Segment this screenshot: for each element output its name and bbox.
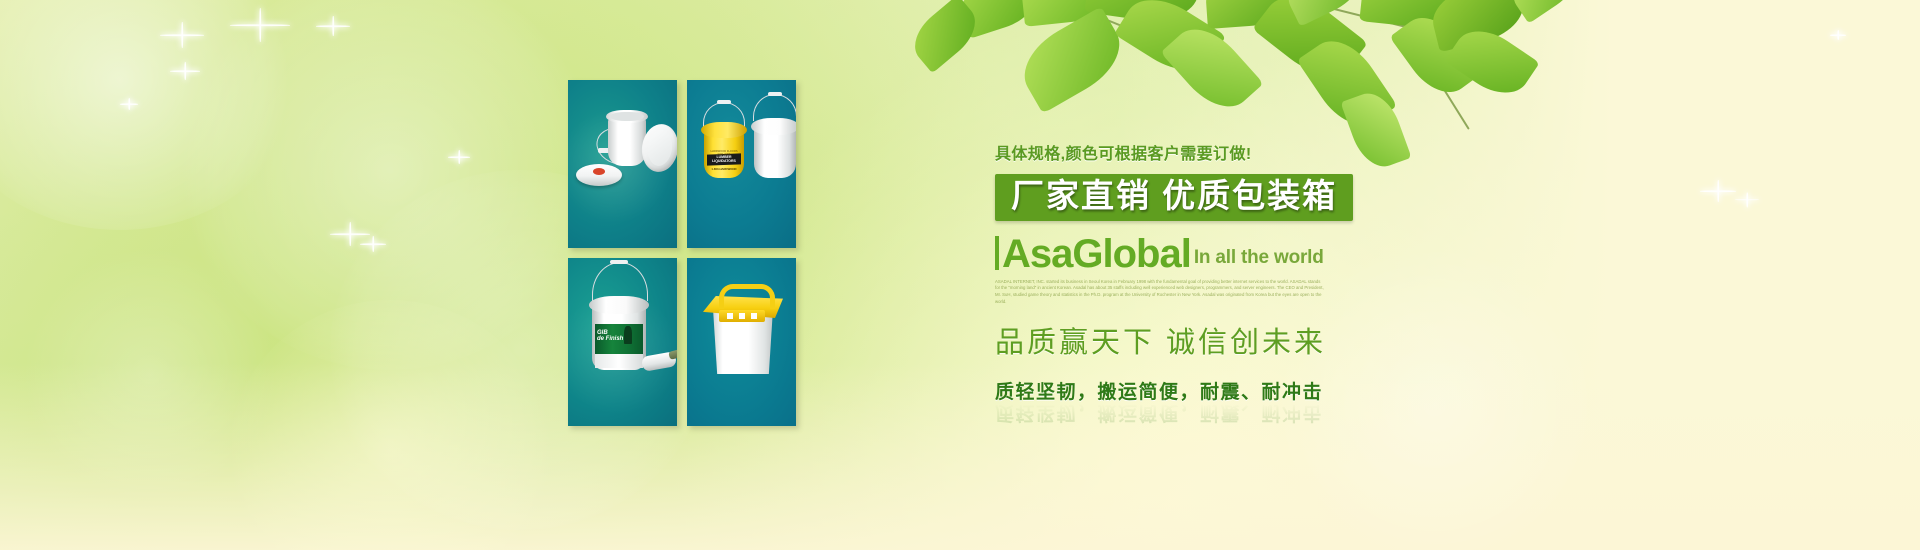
tote-handle — [719, 284, 775, 309]
brand-name: AsaGlobal — [1002, 235, 1191, 273]
company-blurb: ASADAL INTERNET, INC. started its busine… — [995, 279, 1325, 306]
banner-text-column: 具体规格,颜色可根据客户需要订做! 厂家直销 优质包装箱 AsaGlobal I… — [995, 140, 1635, 429]
product-photo-white-pail-with-lids[interactable] — [568, 80, 677, 248]
pail-handle-grip — [768, 92, 782, 96]
pail-handle — [753, 94, 796, 121]
brand-accent-bar — [995, 236, 999, 270]
headline-green-bar: 厂家直销 优质包装箱 — [995, 174, 1353, 221]
pail-lid — [589, 296, 649, 314]
pail-label-text: LUMBERLIQUIDATORS — [708, 155, 740, 164]
pail-label-phone: 1-800-HARDWOOD — [708, 167, 740, 171]
product-image-grid: LUMBERLIQUIDATORS HARDWOOD FLOORS FOR LE… — [568, 80, 796, 426]
product-photo-gib-trade-finish-pail[interactable]: GIBde Finish — [568, 258, 677, 426]
pail-label-footer — [595, 354, 643, 368]
brand-tagline: In all the world — [1194, 247, 1324, 269]
brand-lockup: AsaGlobal In all the world — [995, 235, 1635, 273]
tote-latch-slot — [727, 313, 733, 319]
promotional-banner: LUMBERLIQUIDATORS HARDWOOD FLOORS FOR LE… — [0, 0, 1920, 550]
tote-latch-slot — [751, 313, 757, 319]
pail-handle-grip — [717, 100, 731, 104]
product-photo-yellow-lid-tote-box[interactable] — [687, 258, 796, 426]
pail-handle-grip — [610, 260, 628, 264]
pail-lid-spout-cap — [593, 168, 605, 175]
tagline: 具体规格,颜色可根据客户需要订做! — [995, 140, 1635, 164]
pail-label-topline: HARDWOOD FLOORS FOR LESS — [708, 150, 740, 156]
yellow-pail: LUMBERLIQUIDATORS HARDWOOD FLOORS FOR LE… — [701, 116, 747, 180]
features-text-reflection: 质轻坚韧，搬运简便，耐震、耐冲击 — [995, 401, 1323, 428]
pail-opening — [610, 112, 644, 121]
pail-lid — [701, 122, 747, 138]
gib-pail: GIBde Finish — [588, 280, 650, 376]
white-pail — [751, 110, 796, 180]
slogan: 品质赢天下 诚信创未来 — [995, 319, 1635, 361]
product-photo-yellow-and-white-pails[interactable]: LUMBERLIQUIDATORS HARDWOOD FLOORS FOR LE… — [687, 80, 796, 248]
headline-text: 厂家直销 优质包装箱 — [1011, 179, 1337, 214]
features-block: 质轻坚韧，搬运简便，耐震、耐冲击 质轻坚韧，搬运简便，耐震、耐冲击 — [995, 377, 1635, 429]
tote-latch-slot — [739, 313, 745, 319]
pail-label-figure — [624, 326, 632, 344]
pail-body — [608, 116, 646, 166]
pail-lid — [751, 118, 796, 135]
